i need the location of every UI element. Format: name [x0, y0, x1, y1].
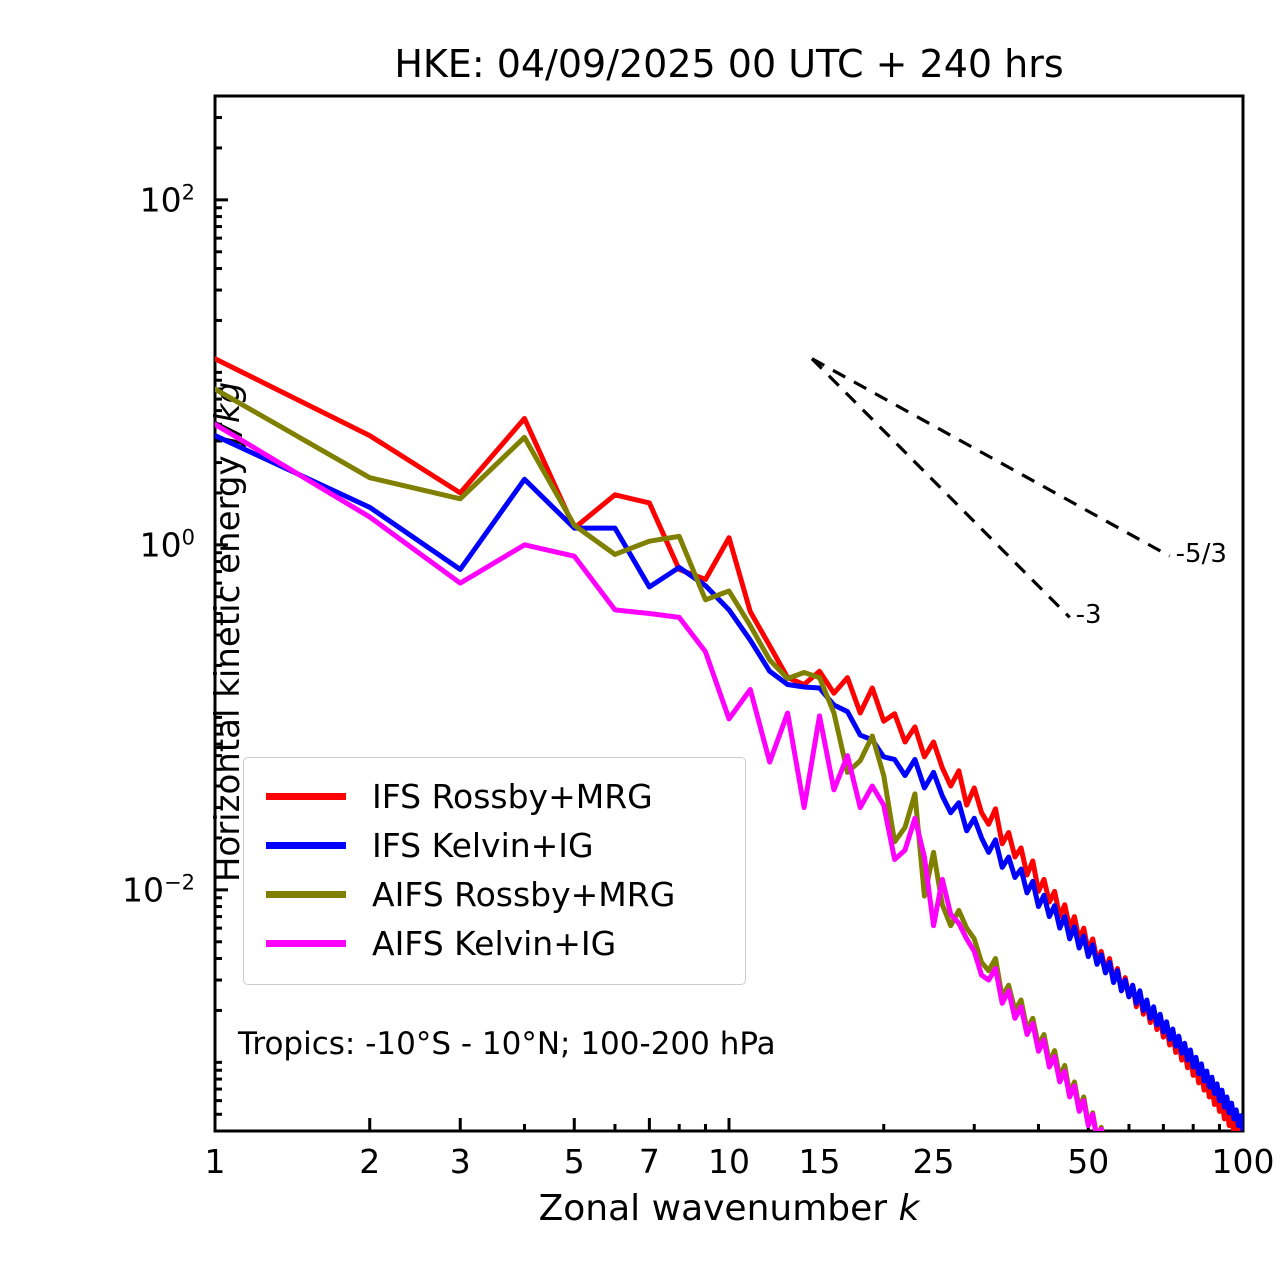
x-tick-label: 5 — [564, 1142, 585, 1181]
legend[interactable]: IFS Rossby+MRGIFS Kelvin+IGAIFS Rossby+M… — [243, 757, 746, 985]
x-tick-label: 7 — [639, 1142, 660, 1181]
legend-swatch-0 — [266, 793, 346, 800]
y-tick-label: 10−2 — [122, 870, 195, 909]
slope-label--3: -3 — [1076, 600, 1102, 630]
region-annotation: Tropics: -10°S - 10°N; 100-200 hPa — [238, 1026, 776, 1062]
x-tick-label: 100 — [1212, 1142, 1275, 1181]
figure-canvas: HKE: 04/09/2025 00 UTC + 240 hrs Horizon… — [0, 0, 1280, 1288]
x-tick-label: 10 — [708, 1142, 750, 1181]
x-tick-label: 25 — [913, 1142, 955, 1181]
reference-line--3 — [812, 359, 1070, 618]
slope-label--5-3: -5/3 — [1176, 539, 1227, 569]
y-tick-label: 102 — [140, 180, 195, 219]
legend-item-0[interactable]: IFS Rossby+MRG — [260, 772, 729, 821]
x-tick-label: 15 — [799, 1142, 841, 1181]
legend-item-3[interactable]: AIFS Kelvin+IG — [260, 919, 729, 968]
x-tick-label: 2 — [359, 1142, 380, 1181]
x-tick-label: 50 — [1067, 1142, 1109, 1181]
legend-label-1: IFS Kelvin+IG — [372, 826, 594, 865]
y-tick-label: 100 — [140, 525, 195, 564]
legend-swatch-1 — [266, 842, 346, 849]
reference-line--5-3 — [812, 359, 1170, 556]
reference-slope-lines — [812, 359, 1170, 618]
legend-label-2: AIFS Rossby+MRG — [372, 875, 675, 914]
legend-label-3: AIFS Kelvin+IG — [372, 924, 616, 963]
legend-swatch-2 — [266, 891, 346, 898]
legend-label-0: IFS Rossby+MRG — [372, 777, 653, 816]
legend-swatch-3 — [266, 940, 346, 947]
legend-item-2[interactable]: AIFS Rossby+MRG — [260, 870, 729, 919]
x-tick-label: 1 — [205, 1142, 226, 1181]
x-tick-label: 3 — [450, 1142, 471, 1181]
legend-item-1[interactable]: IFS Kelvin+IG — [260, 821, 729, 870]
